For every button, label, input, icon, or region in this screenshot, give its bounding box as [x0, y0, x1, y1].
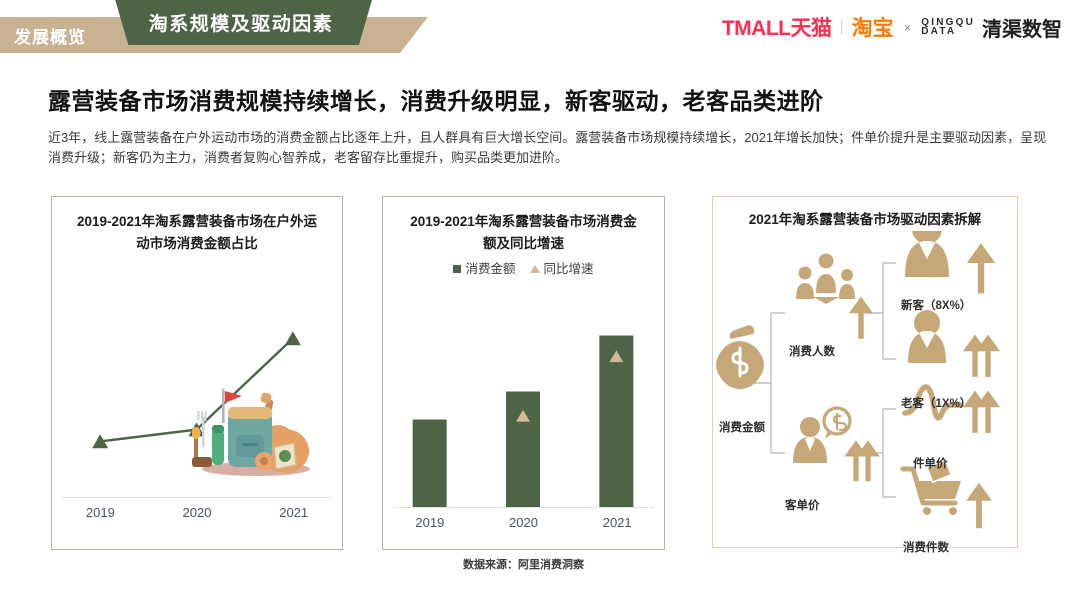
chart-2-legend: 消费金额 同比增速	[383, 263, 664, 275]
chart-1-xlabel-1: 2020	[149, 505, 246, 520]
trend-arrow-oldcust-b	[981, 339, 995, 377]
chart-1-xlabel-2: 2021	[245, 505, 342, 520]
returning-customer-icon	[908, 310, 946, 363]
chart-2-title: 2019-2021年淘系露营装备市场消费金额及同比增速	[383, 211, 664, 255]
trend-arrow-up-2a	[850, 445, 863, 481]
people-group-icon	[796, 254, 855, 305]
trend-arrow-oldcust-a	[968, 339, 982, 377]
page-title: 露营装备市场消费规模持续增长，消费升级明显，新客驱动，老客品类进阶	[48, 82, 824, 116]
header-tab[interactable]: 淘系规模及驱动因素	[110, 0, 372, 45]
chart-2-xlabel-0: 2019	[383, 515, 477, 530]
legend-item-growth: 同比增速	[530, 263, 594, 275]
chart-1-xlabel-0: 2019	[52, 505, 149, 520]
chart-2-xlabel-2: 2021	[570, 515, 664, 530]
qingqu-data-logo: QINGQU DATA	[921, 18, 975, 36]
camping-gear-illustration	[192, 383, 317, 479]
chart-panel-line: 2019-2021年淘系露营装备市场在户外运动市场消费金额占比	[51, 196, 343, 550]
legend-item-amount: 消费金额	[453, 263, 515, 275]
qingqu-cn-logo: 清渠数智	[982, 13, 1062, 42]
chart-panel-bar: 2019-2021年淘系露营装备市场消费金额及同比增速 消费金额 同比增速 20…	[382, 196, 665, 550]
trend-arrow-up-1	[854, 301, 868, 339]
cross-icon: ×	[904, 20, 912, 35]
diagram-label-unit-price: 件单价	[913, 455, 948, 471]
chart-1-plot	[52, 275, 342, 497]
trend-arrow-up-2b	[862, 445, 875, 481]
logo-row: TMALL天猫 | 淘宝 × QINGQU DATA 清渠数智	[722, 12, 1062, 42]
line-marker-2021	[285, 331, 301, 345]
diagram-label-people: 消费人数	[789, 343, 835, 359]
qingqu-logo-line2: DATA	[921, 27, 975, 36]
chart-1-x-labels: 2019 2020 2021	[52, 505, 342, 520]
data-source-note: 数据来源：阿里消费洞察	[382, 556, 665, 572]
bar-2020	[506, 392, 540, 508]
slide-page: 发展概览 淘系规模及驱动因素 TMALL天猫 | 淘宝 × QINGQU DAT…	[0, 0, 1080, 607]
chart-1-x-axis	[62, 497, 332, 498]
chart-2-xlabel-1: 2020	[477, 515, 571, 530]
diagram-label-new-customer: 新客（8X%）	[901, 297, 971, 313]
header-section-label: 发展概览	[14, 23, 86, 48]
chart-2-x-labels: 2019 2020 2021	[383, 515, 664, 530]
legend-label-growth: 同比增速	[544, 263, 594, 275]
page-subtitle: 近3年，线上露营装备在户外运动市场的消费金额占比逐年上升，且人群具有巨大增长空间…	[48, 128, 1048, 168]
bar-chart-svg	[383, 291, 663, 507]
chart-3-title: 2021年淘系露营装备市场驱动因素拆解	[713, 209, 1017, 231]
diagram-label-customer-price: 客单价	[785, 497, 820, 513]
bar-2019	[413, 420, 447, 508]
tmall-logo: TMALL天猫	[722, 12, 832, 42]
diagram-label-returning-customer: 老客（1X%）	[901, 395, 971, 411]
header-tab-label: 淘系规模及驱动因素	[149, 9, 334, 36]
diagram-label-root: 消费金额	[719, 419, 765, 435]
taobao-logo: 淘宝	[852, 12, 894, 42]
logo-separator: |	[839, 18, 843, 36]
trend-arrow-newcust	[973, 249, 989, 294]
chart-2-plot	[383, 291, 664, 507]
driver-diagram-panel: 2021年淘系露营装备市场驱动因素拆解	[712, 196, 1018, 548]
triangle-marker-icon	[530, 265, 540, 273]
new-customer-icon	[905, 231, 949, 277]
chart-1-title: 2019-2021年淘系露营装备市场在户外运动市场消费金额占比	[52, 211, 342, 255]
diagram-label-quantity: 消费件数	[903, 539, 949, 555]
money-bag-icon	[716, 325, 764, 389]
square-marker-icon	[453, 265, 461, 273]
customer-price-icon	[793, 408, 850, 463]
chart-2-x-axis	[393, 507, 654, 508]
driver-diagram-svg	[713, 231, 1016, 541]
trend-arrow-unitprice-b	[981, 395, 995, 433]
legend-label-amount: 消费金额	[465, 263, 515, 275]
trend-arrow-qty	[972, 488, 987, 529]
